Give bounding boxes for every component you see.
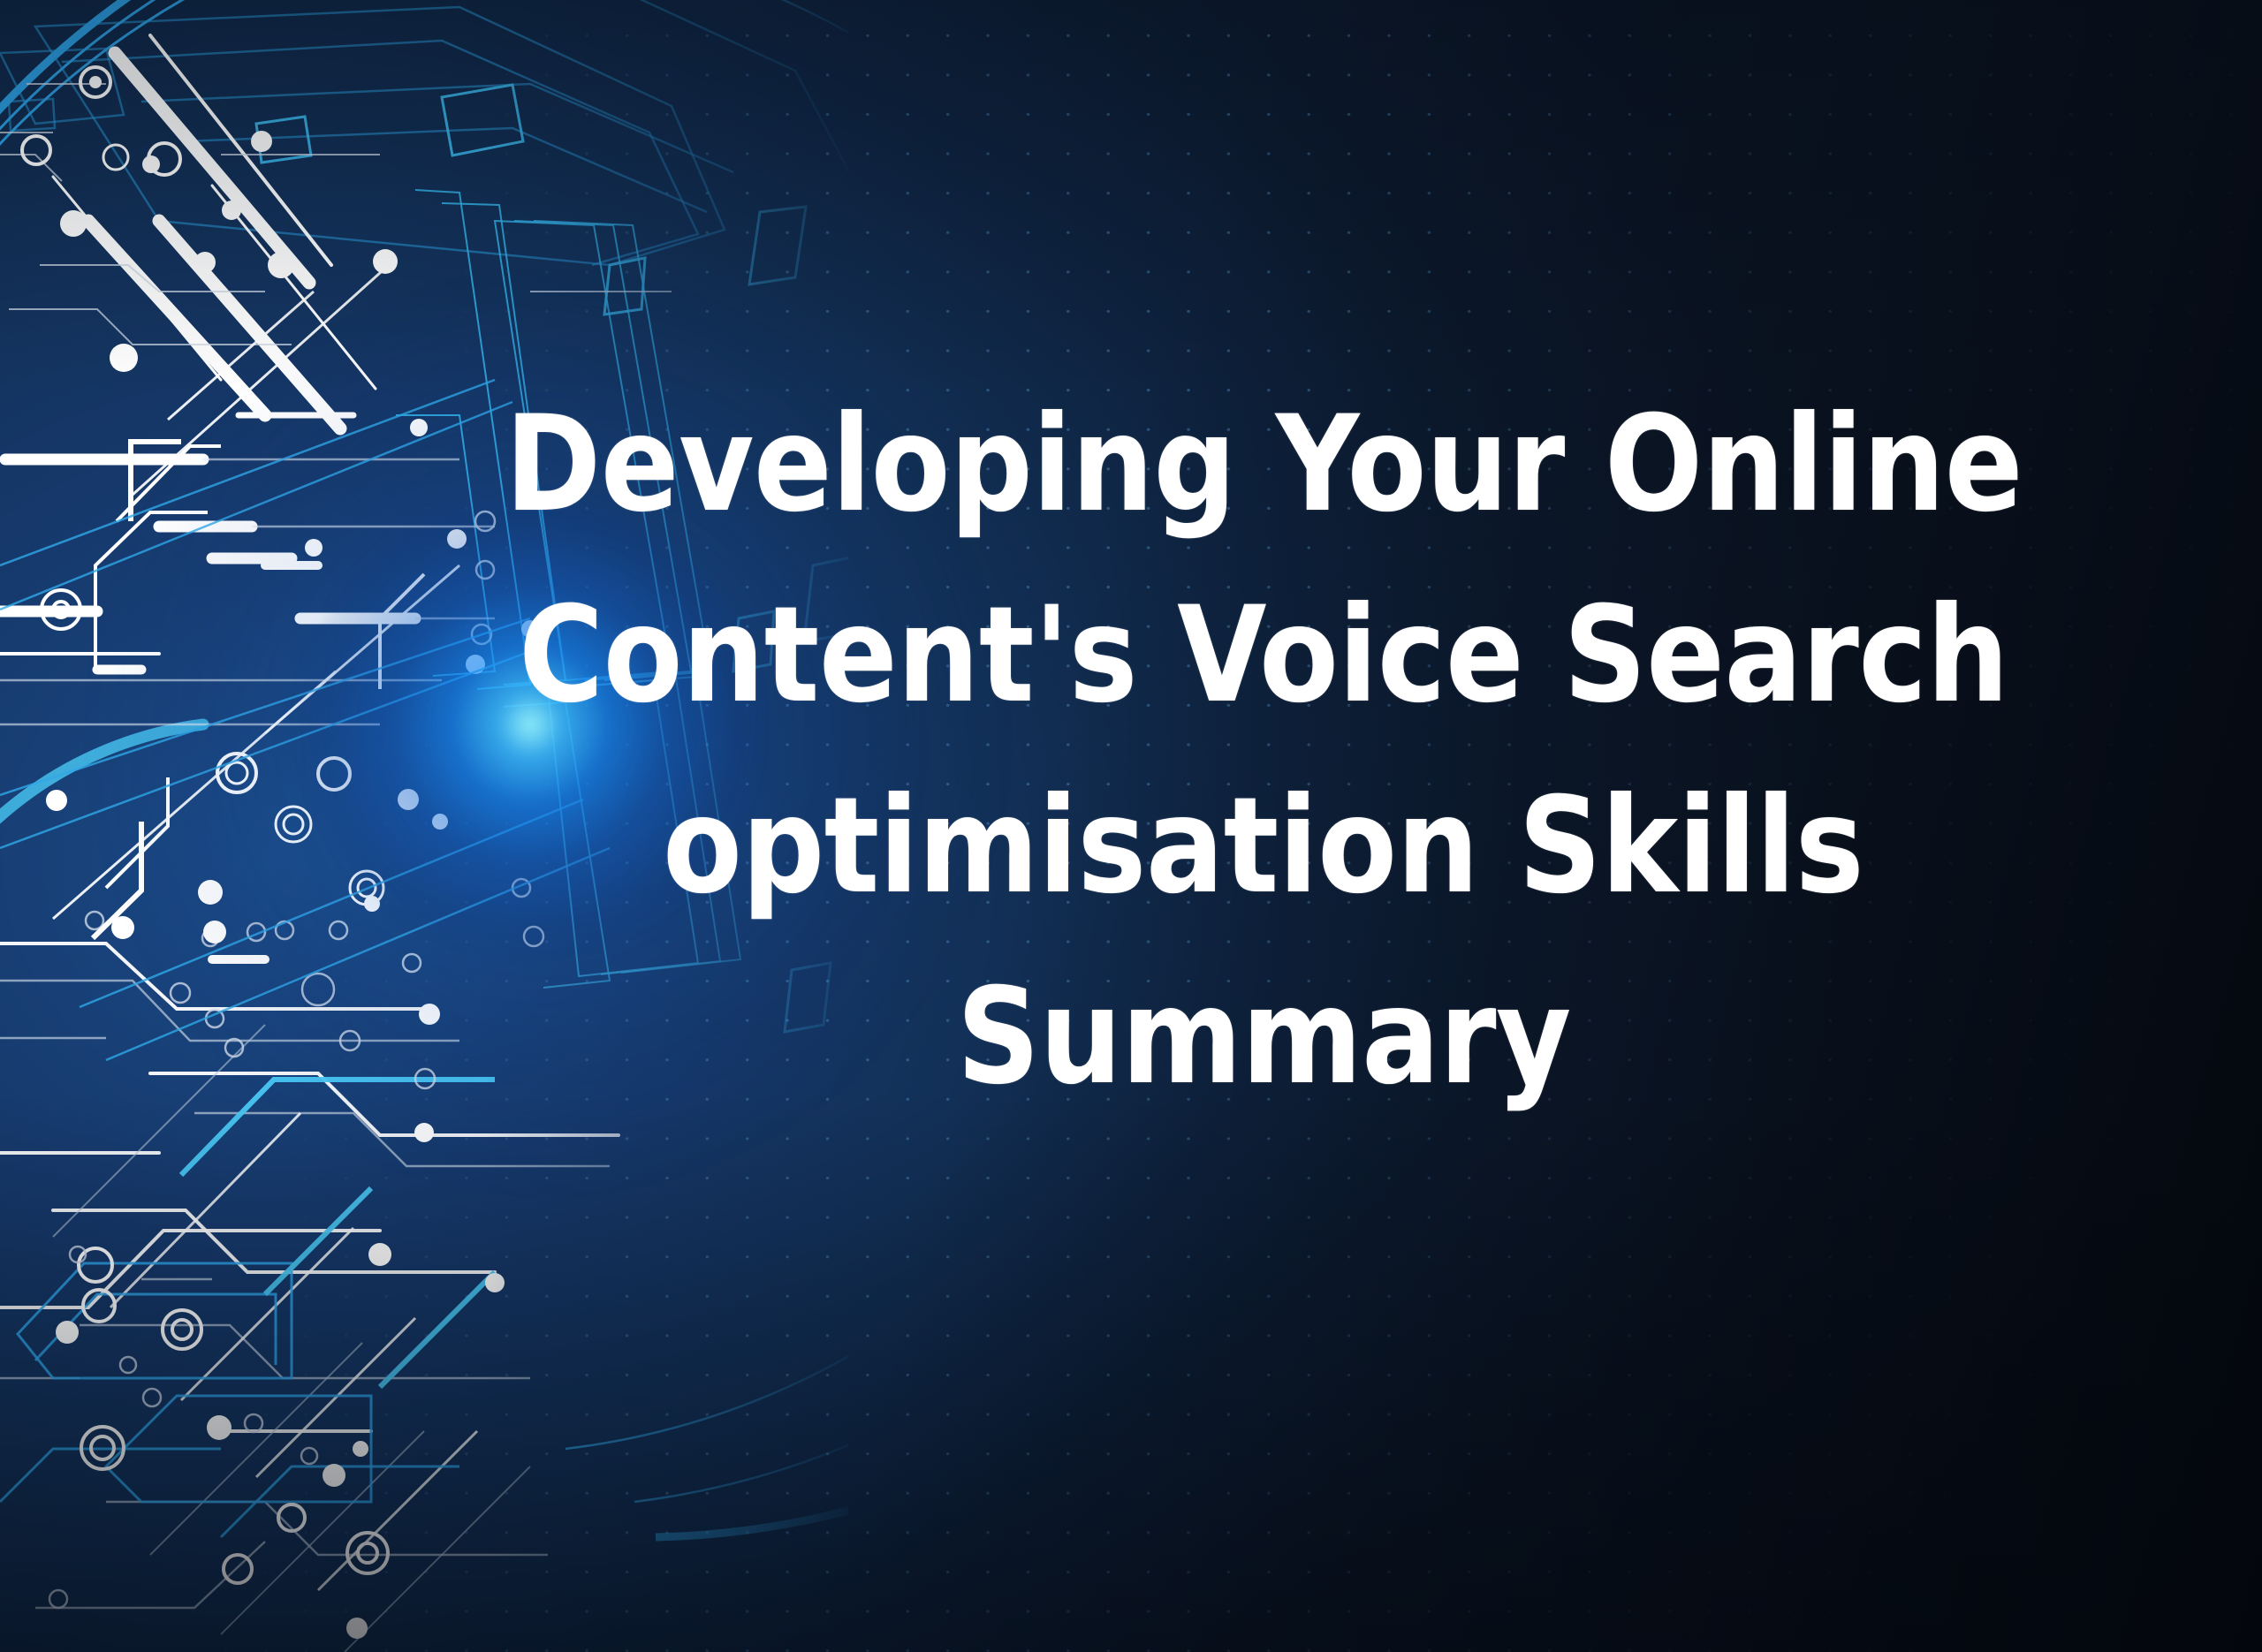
- title-line-4: Summary: [956, 942, 1570, 1133]
- title-line-1: Developing Your Online: [505, 369, 2023, 560]
- slide-canvas: Developing Your Online Content's Voice S…: [0, 0, 2262, 1652]
- title-line-2: Content's Voice Search: [519, 560, 2008, 751]
- title-line-3: optimisation Skills: [663, 751, 1863, 942]
- slide-title: Developing Your Online Content's Voice S…: [265, 265, 2262, 1237]
